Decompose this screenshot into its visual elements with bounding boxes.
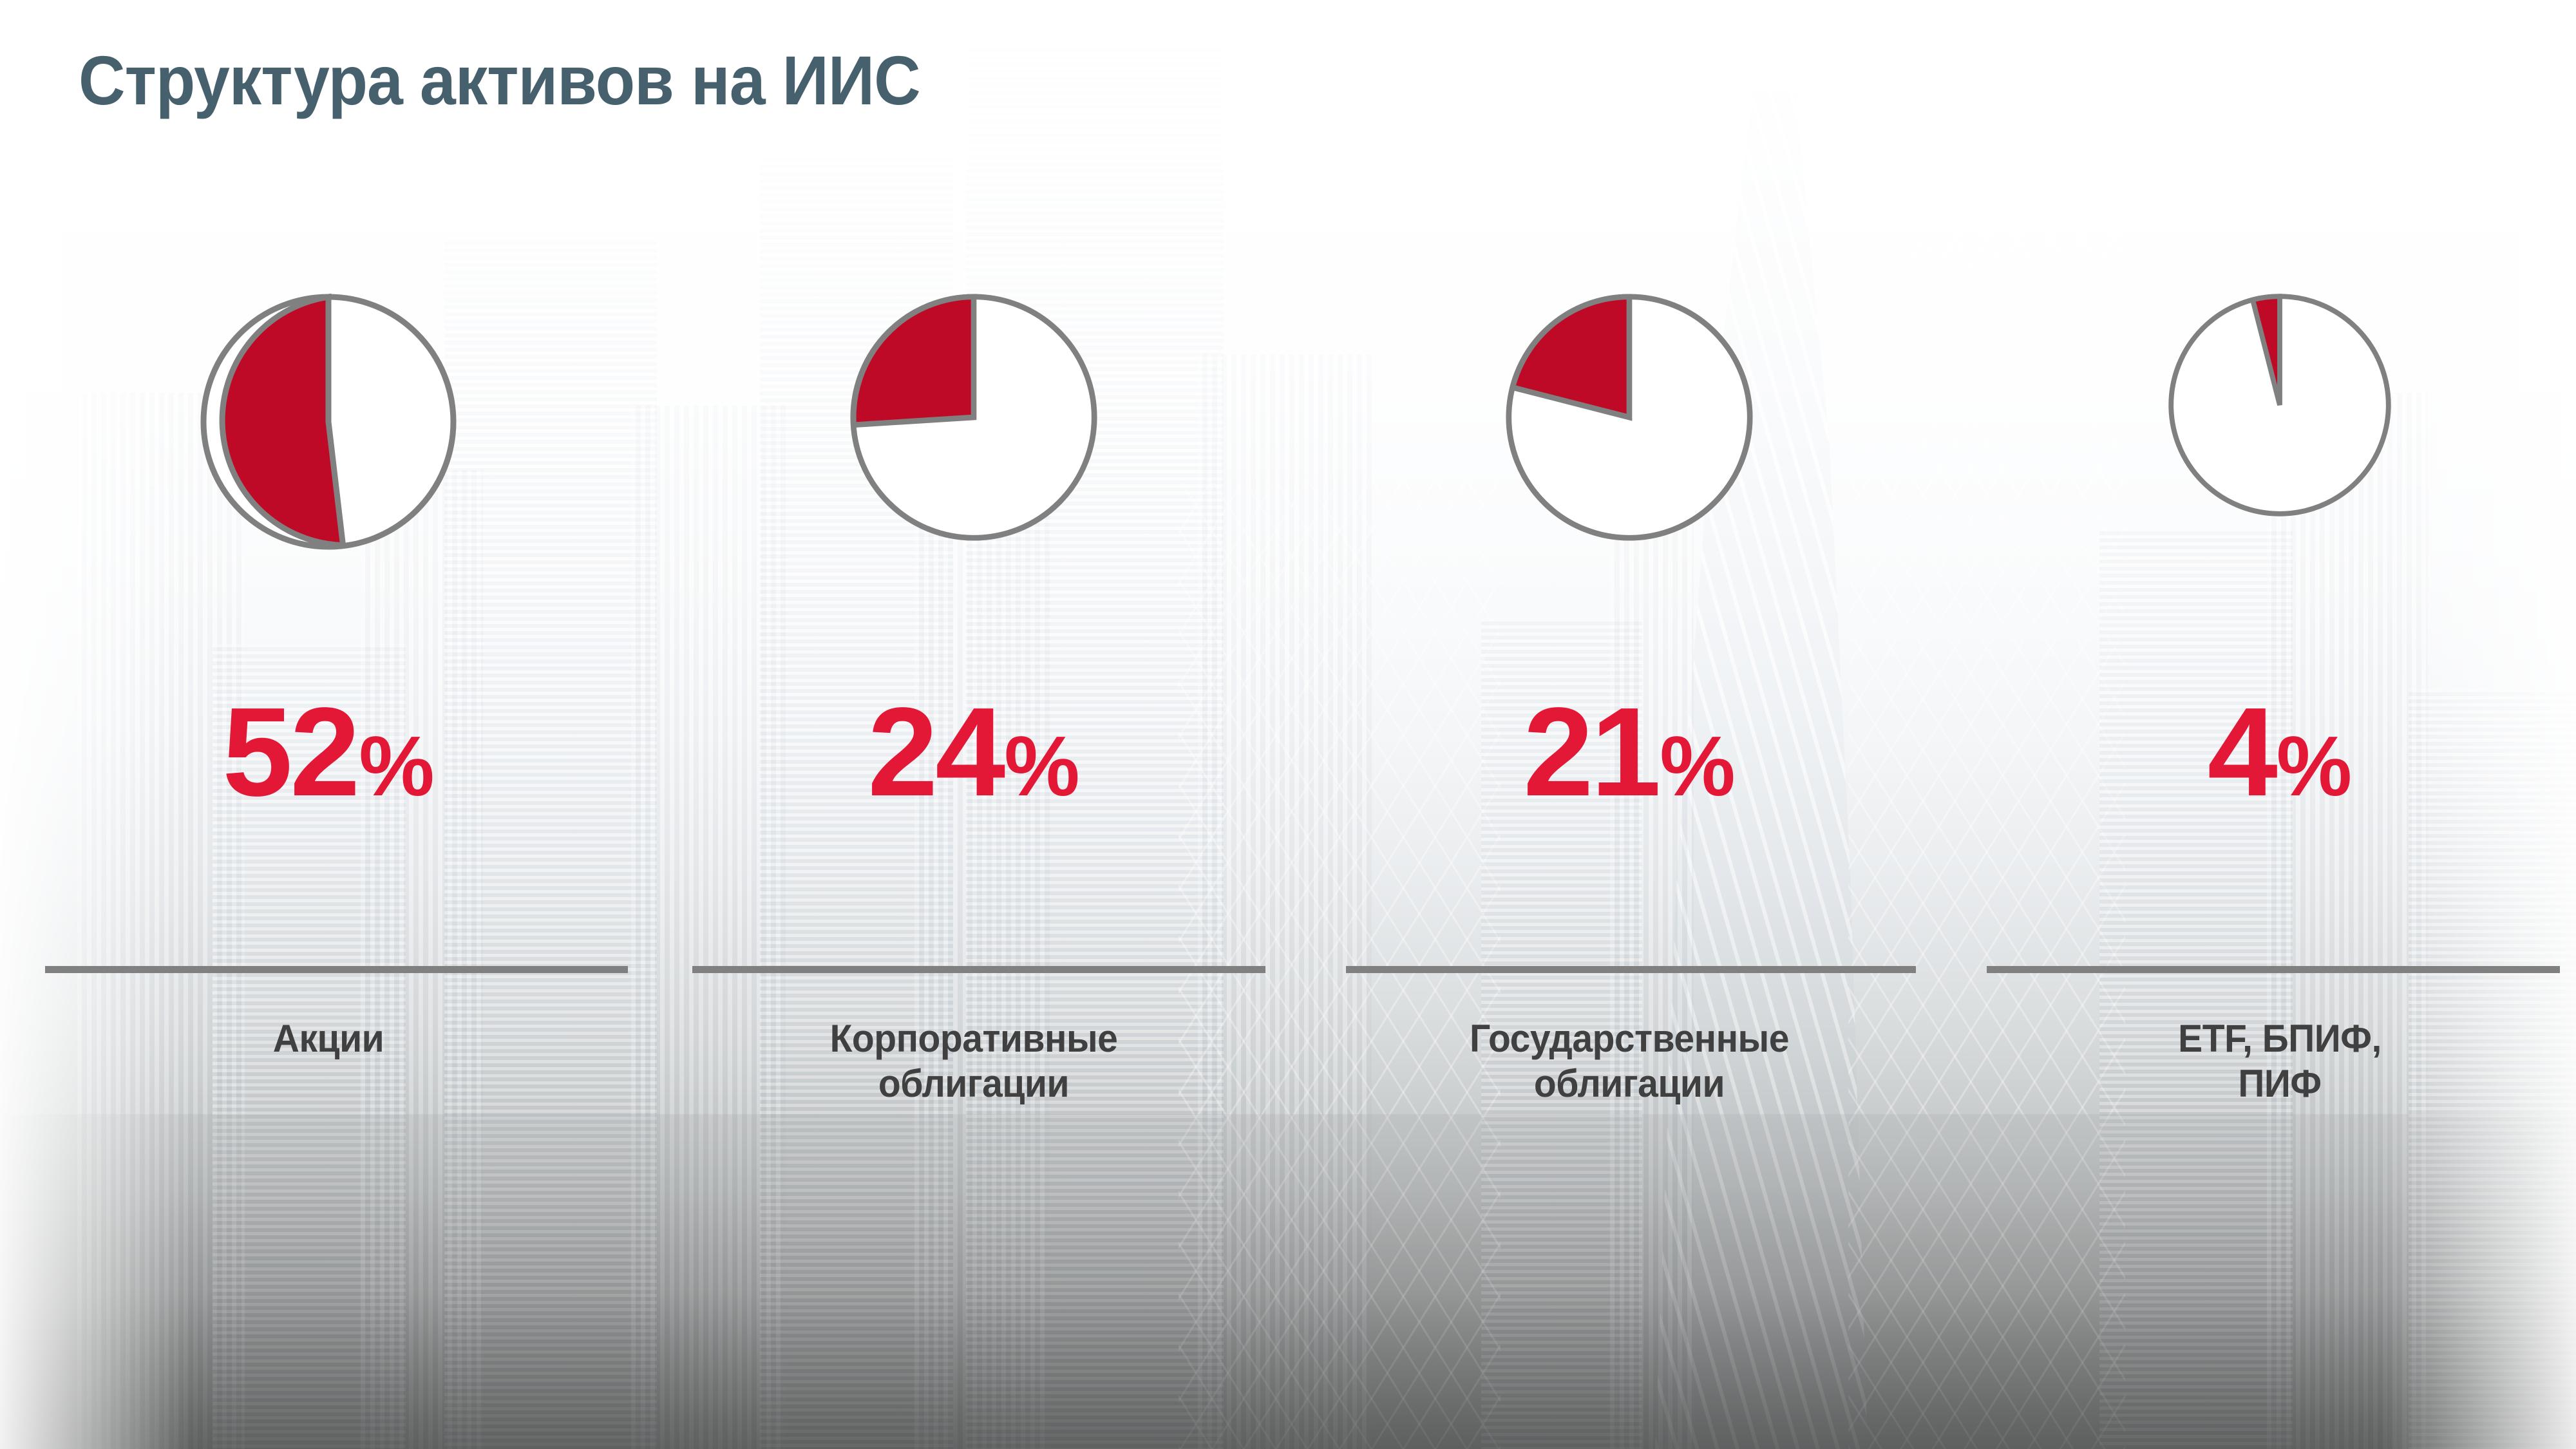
percent-number: 24 <box>867 681 1003 822</box>
percent-number: 4 <box>2208 681 2275 822</box>
metric-label-line-2: облигации <box>1323 1061 1935 1106</box>
percent-value-gosudarstvennye: 21% <box>1307 689 1951 815</box>
pie-chart-korporativnye-obligacii <box>849 293 1098 542</box>
metric-label-line-2: ПИФ <box>1974 1061 2576 1106</box>
percent-symbol: % <box>359 719 434 813</box>
divider-rule-akcii <box>45 966 628 973</box>
percent-number: 21 <box>1523 681 1658 822</box>
percent-number: 52 <box>222 681 357 822</box>
pie-chart-akcii-wrap <box>6 293 650 551</box>
percent-symbol: % <box>1660 719 1735 813</box>
pie-chart-akcii <box>200 293 457 551</box>
pie-chart-gosudarstvennye-wrap <box>1307 293 1951 542</box>
percent-symbol: % <box>2277 719 2352 813</box>
metric-label-akcii: Акции <box>23 1016 634 1061</box>
metric-label-korporativnye-obligacii: Корпоративные облигации <box>668 1016 1280 1106</box>
pie-slice-filled <box>853 297 974 425</box>
metric-column-etf-bpif-pif: 4% ETF, БПИФ, ПИФ <box>1958 0 2576 1449</box>
metric-label-line-1: Корпоративные <box>668 1016 1280 1061</box>
pie-chart-etf-wrap <box>1958 293 2576 517</box>
divider-rule-korporativnye <box>692 966 1265 973</box>
pie-chart-korporativnye-wrap <box>652 293 1296 542</box>
divider-rule-gosudarstvennye <box>1346 966 1916 973</box>
metric-label-line-1: Акции <box>23 1016 634 1061</box>
percent-value-korporativnye: 24% <box>652 689 1296 815</box>
metrics-row: 52% Акции 24% К <box>0 0 2576 1449</box>
percent-value-akcii: 52% <box>6 689 650 815</box>
metric-label-etf-bpif-pif: ETF, БПИФ, ПИФ <box>1974 1016 2576 1106</box>
metric-label-line-1: Государственные <box>1323 1016 1935 1061</box>
metric-label-line-2: облигации <box>668 1061 1280 1106</box>
metric-column-gosudarstvennye-obligacii: 21% Государственные облигации <box>1307 0 1951 1449</box>
metric-column-akcii: 52% Акции <box>6 0 650 1449</box>
divider-rule-etf <box>1987 966 2560 973</box>
metric-label-line-1: ETF, БПИФ, <box>1974 1016 2576 1061</box>
slide-content: Структура активов на ИИС 52% Акции <box>0 0 2576 1449</box>
percent-value-etf: 4% <box>1958 689 2576 815</box>
metric-label-gosudarstvennye-obligacii: Государственные облигации <box>1323 1016 1935 1106</box>
pie-chart-etf-bpif-pif <box>2168 293 2392 517</box>
metric-column-korporativnye-obligacii: 24% Корпоративные облигации <box>652 0 1296 1449</box>
slide-canvas: Структура активов на ИИС 52% Акции <box>0 0 2576 1449</box>
pie-chart-gosudarstvennye-obligacii <box>1505 293 1754 542</box>
percent-symbol: % <box>1004 719 1079 813</box>
